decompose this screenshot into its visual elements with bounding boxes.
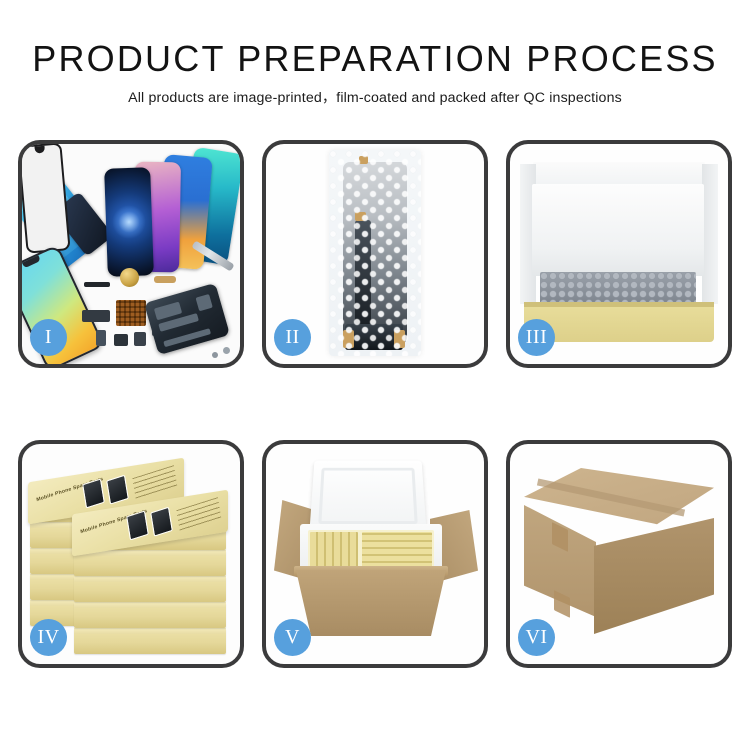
box-art-phone-icon-2 [106, 475, 129, 505]
step-panel-2: II [262, 140, 488, 368]
step-badge-2: II [274, 319, 311, 356]
component-block-icon [82, 310, 110, 322]
box-art-phone-icon-2 [150, 507, 173, 537]
step-badge-4: IV [30, 619, 67, 656]
yellow-boxes-group-1 [310, 532, 358, 568]
screw-icon-2 [212, 352, 218, 358]
step-panel-5: V [262, 440, 488, 668]
step-panel-4: Mobile Phone Spare Parts Mobile Phone Sp… [18, 440, 244, 668]
yellow-boxes-group-2 [362, 532, 432, 568]
screen-glass-panel-icon [22, 144, 71, 254]
bubble-texture-icon [329, 150, 421, 356]
header: PRODUCT PREPARATION PROCESS All products… [0, 0, 750, 107]
flex-cable-icon [84, 282, 110, 287]
process-steps-grid: I II [18, 140, 732, 668]
product-preparation-infographic: PRODUCT PREPARATION PROCESS All products… [0, 0, 750, 750]
gold-connector-icon [154, 276, 176, 283]
disassembled-phone-back-icon [144, 283, 230, 355]
styrofoam-lid-icon [309, 461, 426, 533]
step-panel-6: VI [506, 440, 732, 668]
step-badge-3: III [518, 319, 555, 356]
step-badge-1: I [30, 319, 67, 356]
stacked-box [74, 628, 226, 654]
small-part-icon [96, 330, 106, 346]
foam-sheet-icon [532, 184, 704, 276]
page-title: PRODUCT PREPARATION PROCESS [0, 40, 750, 78]
bubble-wrap-bag-icon [329, 150, 421, 356]
box-spec-lines [132, 465, 177, 501]
phone-dark-glass-icon [104, 167, 154, 277]
carton-right-face [594, 518, 714, 634]
box-contents-area [308, 530, 434, 570]
box-flap-right-icon [702, 164, 718, 304]
step-badge-6: VI [518, 619, 555, 656]
box-spec-lines [176, 497, 221, 533]
step-badge-5: V [274, 619, 311, 656]
bubble-wrap-bed-icon [540, 272, 696, 306]
chip-grid-icon [116, 300, 146, 326]
box-art-phone-icon-1 [126, 510, 149, 540]
stacked-box [74, 576, 226, 602]
carton-body-icon [296, 570, 446, 636]
step-panel-3: III [506, 140, 732, 368]
page-subtitle: All products are image-printed，film-coat… [0, 87, 750, 107]
box-art-phone-icon-1 [82, 478, 105, 508]
camera-module-icon [114, 334, 128, 346]
gold-component-icon [120, 268, 139, 287]
speaker-part-icon [134, 332, 146, 346]
sealed-carton-icon [524, 468, 714, 634]
screw-icon-1 [223, 347, 230, 354]
stacked-box [74, 602, 226, 628]
stacked-box [74, 550, 226, 576]
step-panel-1: I [18, 140, 244, 368]
